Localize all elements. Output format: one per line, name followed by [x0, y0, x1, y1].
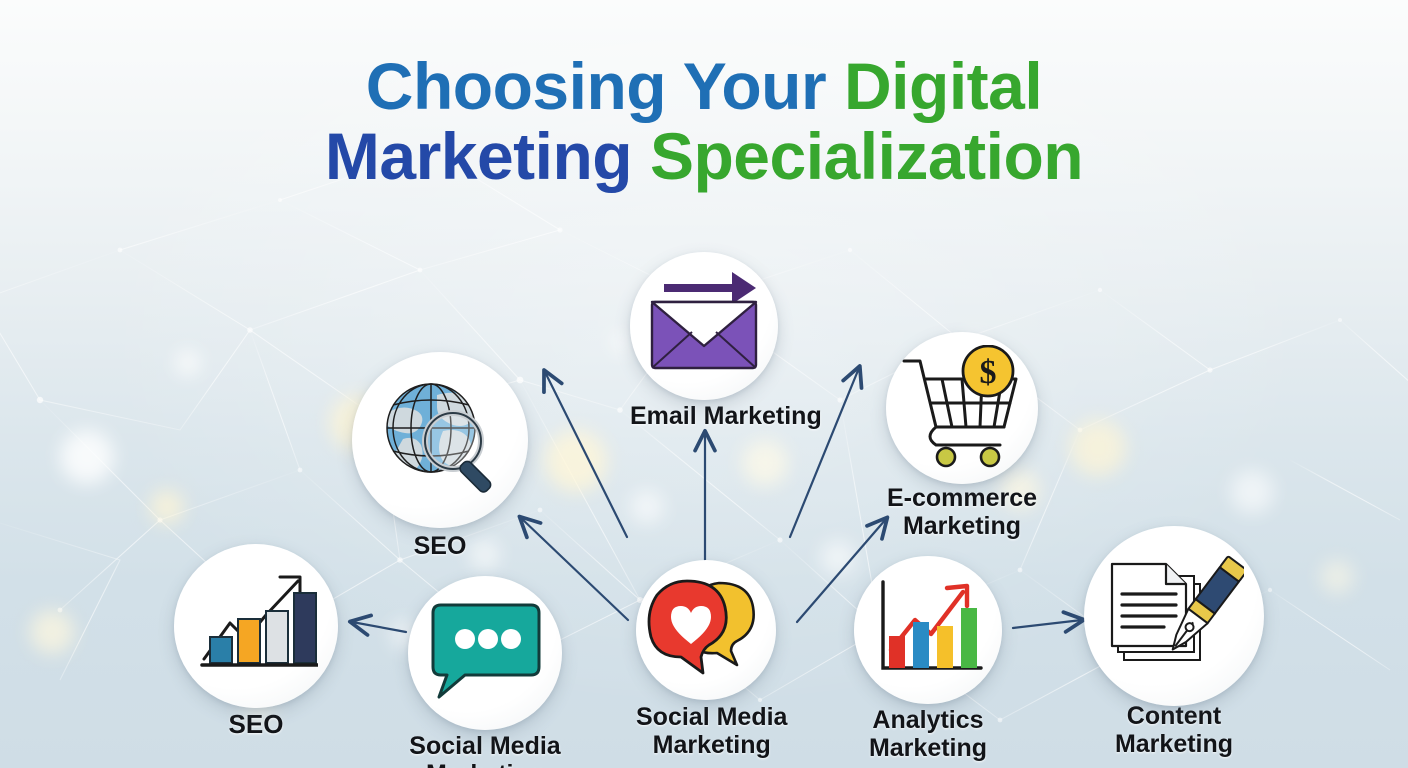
- page-title: Choosing Your Digital Marketing Speciali…: [0, 52, 1408, 192]
- social-hub-label-line-1: Social Media: [636, 703, 787, 731]
- analytics-marketing-circle[interactable]: [854, 556, 1002, 704]
- title-marketing: Marketing: [325, 119, 632, 193]
- content-label-line-1: Content: [1084, 702, 1264, 730]
- seo-globe-label: SEO: [352, 532, 528, 560]
- chat-bubble-dots-icon: [425, 597, 545, 709]
- ecommerce-marketing-circle[interactable]: $: [886, 332, 1038, 484]
- node-analytics-marketing[interactable]: Analytics Marketing: [854, 556, 1002, 762]
- analytics-marketing-label: Analytics Marketing: [854, 706, 1002, 762]
- node-ecommerce-marketing[interactable]: $ E-commerce Marketing: [886, 332, 1038, 540]
- node-email-marketing[interactable]: Email Marketing: [630, 252, 822, 430]
- seo-barchart-circle[interactable]: [174, 544, 338, 708]
- title-choosing-your: Choosing Your: [366, 49, 826, 123]
- social-chat-label-line-1: Social Media: [408, 732, 562, 760]
- infographic-canvas: Choosing Your Digital Marketing Speciali…: [0, 0, 1408, 768]
- node-social-media-chat[interactable]: Social Media Marketing: [408, 576, 562, 768]
- svg-text:$: $: [980, 354, 997, 391]
- social-media-hub-circle[interactable]: [636, 560, 776, 700]
- analytics-label-line-1: Analytics: [854, 706, 1002, 734]
- title-line-2: Marketing Specialization: [0, 122, 1408, 192]
- content-label-line-2: Marketing: [1084, 730, 1264, 758]
- envelope-arrow-icon: [640, 266, 768, 386]
- ecommerce-label-line-2: Marketing: [886, 512, 1038, 540]
- ecommerce-label-line-1: E-commerce: [886, 484, 1038, 512]
- analytics-label-line-2: Marketing: [854, 734, 1002, 762]
- ecommerce-marketing-label: E-commerce Marketing: [886, 484, 1038, 540]
- social-media-chat-label: Social Media Marketing: [408, 732, 562, 768]
- title-line-1: Choosing Your Digital: [0, 52, 1408, 122]
- bar-chart-trend-icon: [194, 567, 318, 685]
- email-marketing-label: Email Marketing: [630, 402, 822, 430]
- shopping-cart-coin-icon: $: [896, 345, 1028, 471]
- node-social-media-hub[interactable]: Social Media Marketing: [636, 560, 787, 759]
- seo-barchart-label: SEO: [174, 710, 338, 739]
- title-specialization: Specialization: [650, 119, 1083, 193]
- node-seo-globe[interactable]: SEO: [352, 352, 528, 560]
- social-hub-label-line-2: Marketing: [636, 731, 787, 759]
- social-chat-label-line-2: Marketing: [408, 760, 562, 768]
- content-marketing-circle[interactable]: [1084, 526, 1264, 706]
- social-media-hub-label: Social Media Marketing: [636, 703, 787, 759]
- email-marketing-circle[interactable]: [630, 252, 778, 400]
- document-pen-icon: [1104, 548, 1244, 684]
- heart-speech-bubbles-icon: [647, 577, 765, 683]
- content-marketing-label: Content Marketing: [1084, 702, 1264, 758]
- title-digital: Digital: [844, 49, 1042, 123]
- social-media-chat-circle[interactable]: [408, 576, 562, 730]
- seo-globe-circle[interactable]: [352, 352, 528, 528]
- analytics-bars-arrow-icon: [869, 574, 987, 686]
- globe-magnifier-icon: [373, 373, 507, 507]
- node-seo-barchart[interactable]: SEO: [174, 544, 338, 739]
- node-content-marketing[interactable]: Content Marketing: [1084, 526, 1264, 758]
